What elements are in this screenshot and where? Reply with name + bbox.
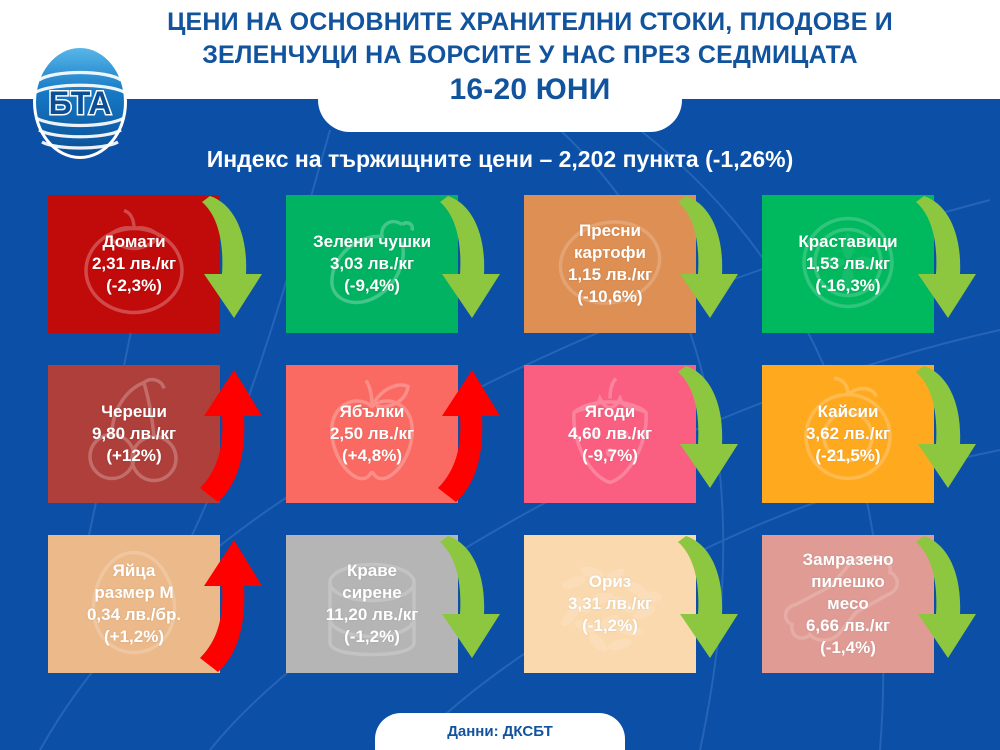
commodity-cell: Кайсии3,62 лв./кг(-21,5%) xyxy=(754,356,992,516)
trend-arrow-down xyxy=(904,530,982,680)
commodity-change: (+12%) xyxy=(92,445,176,467)
commodity-text: Череши9,80 лв./кг(+12%) xyxy=(86,401,182,467)
commodity-price: 11,20 лв./кг xyxy=(326,604,419,626)
trend-arrow-down xyxy=(666,360,744,510)
commodity-price: 1,15 лв./кг xyxy=(568,264,652,286)
commodity-change: (-9,7%) xyxy=(568,445,652,467)
commodity-cell: Замразенопилешкомесо6,66 лв./кг(-1,4%) xyxy=(754,526,992,686)
commodity-text: Домати2,31 лв./кг(-2,3%) xyxy=(86,231,182,297)
trend-arrow-down xyxy=(904,360,982,510)
price-index-line: Индекс на тържищните цени – 2,202 пункта… xyxy=(0,146,1000,173)
commodity-change: (-1,4%) xyxy=(802,637,893,659)
commodity-row: Домати2,31 лв./кг(-2,3%)Зелени чушки3,03… xyxy=(0,186,1000,356)
commodity-text: Ориз3,31 лв./кг(-1,2%) xyxy=(562,571,658,637)
commodity-change: (-2,3%) xyxy=(92,275,176,297)
bta-logo: БТА xyxy=(22,42,138,162)
commodity-cell: Череши9,80 лв./кг(+12%) xyxy=(40,356,278,516)
commodity-price: 0,34 лв./бр. xyxy=(87,604,181,626)
commodity-cell: Зелени чушки3,03 лв./кг(-9,4%) xyxy=(278,186,516,346)
commodity-name: Зелени чушки xyxy=(313,231,431,253)
commodity-text: Краставици1,53 лв./кг(-16,3%) xyxy=(792,231,903,297)
commodity-cell: Ягоди4,60 лв./кг(-9,7%) xyxy=(516,356,754,516)
commodity-text: Замразенопилешкомесо6,66 лв./кг(-1,4%) xyxy=(796,549,899,659)
trend-arrow-down xyxy=(666,530,744,680)
commodity-name: Домати xyxy=(92,231,176,253)
commodity-cell: Краставици1,53 лв./кг(-16,3%) xyxy=(754,186,992,346)
data-source-label: Данни: ДКСБТ xyxy=(375,723,625,740)
commodity-grid: Домати2,31 лв./кг(-2,3%)Зелени чушки3,03… xyxy=(0,186,1000,696)
trend-arrow-down xyxy=(190,190,268,340)
commodity-name: Краве xyxy=(326,560,419,582)
trend-arrow-down xyxy=(666,190,744,340)
commodity-change: (-1,2%) xyxy=(568,615,652,637)
commodity-price: 3,03 лв./кг xyxy=(313,253,431,275)
commodity-cell: Ориз3,31 лв./кг(-1,2%) xyxy=(516,526,754,686)
commodity-price: 2,50 лв./кг xyxy=(330,423,414,445)
commodity-price: 3,31 лв./кг xyxy=(568,593,652,615)
commodity-cell: Яйцаразмер М0,34 лв./бр.(+1,2%) xyxy=(40,526,278,686)
trend-arrow-up xyxy=(190,530,268,680)
commodity-price: 3,62 лв./кг xyxy=(806,423,890,445)
commodity-price: 2,31 лв./кг xyxy=(92,253,176,275)
commodity-cell: Ябълки2,50 лв./кг(+4,8%) xyxy=(278,356,516,516)
commodity-name: пилешко xyxy=(802,571,893,593)
commodity-name: Пресни xyxy=(568,220,652,242)
commodity-change: (+1,2%) xyxy=(87,626,181,648)
commodity-name: Череши xyxy=(92,401,176,423)
trend-arrow-up xyxy=(190,360,268,510)
commodity-change: (-21,5%) xyxy=(806,445,890,467)
commodity-change: (-10,6%) xyxy=(568,286,652,308)
commodity-text: Ябълки2,50 лв./кг(+4,8%) xyxy=(324,401,420,467)
trend-arrow-down xyxy=(904,190,982,340)
commodity-name: картофи xyxy=(568,242,652,264)
commodity-name: Ябълки xyxy=(330,401,414,423)
trend-arrow-down xyxy=(428,190,506,340)
commodity-name: Ориз xyxy=(568,571,652,593)
trend-arrow-up xyxy=(428,360,506,510)
commodity-row: Яйцаразмер М0,34 лв./бр.(+1,2%)Кравесире… xyxy=(0,526,1000,696)
commodity-name: Кайсии xyxy=(806,401,890,423)
commodity-name: месо xyxy=(802,593,893,615)
commodity-price: 1,53 лв./кг xyxy=(798,253,897,275)
commodity-text: Зелени чушки3,03 лв./кг(-9,4%) xyxy=(307,231,437,297)
commodity-price: 4,60 лв./кг xyxy=(568,423,652,445)
commodity-change: (-16,3%) xyxy=(798,275,897,297)
trend-arrow-down xyxy=(428,530,506,680)
commodity-change: (-9,4%) xyxy=(313,275,431,297)
title-line-1: ЦЕНИ НА ОСНОВНИТЕ ХРАНИТЕЛНИ СТОКИ, ПЛОД… xyxy=(120,8,940,36)
commodity-text: Яйцаразмер М0,34 лв./бр.(+1,2%) xyxy=(81,560,187,648)
commodity-cell: Домати2,31 лв./кг(-2,3%) xyxy=(40,186,278,346)
commodity-text: Ягоди4,60 лв./кг(-9,7%) xyxy=(562,401,658,467)
commodity-name: сирене xyxy=(326,582,419,604)
page-title: ЦЕНИ НА ОСНОВНИТЕ ХРАНИТЕЛНИ СТОКИ, ПЛОД… xyxy=(120,8,940,107)
title-line-2: ЗЕЛЕНЧУЦИ НА БОРСИТЕ У НАС ПРЕЗ СЕДМИЦАТ… xyxy=(120,41,940,69)
commodity-cell: Кравесирене11,20 лв./кг(-1,2%) xyxy=(278,526,516,686)
infographic-canvas: ЦЕНИ НА ОСНОВНИТЕ ХРАНИТЕЛНИ СТОКИ, ПЛОД… xyxy=(0,0,1000,750)
commodity-price: 9,80 лв./кг xyxy=(92,423,176,445)
commodity-name: Краставици xyxy=(798,231,897,253)
commodity-name: Ягоди xyxy=(568,401,652,423)
commodity-text: Кайсии3,62 лв./кг(-21,5%) xyxy=(800,401,896,467)
commodity-text: Пресникартофи1,15 лв./кг(-10,6%) xyxy=(562,220,658,308)
bta-logo-text: БТА xyxy=(49,85,112,121)
commodity-text: Кравесирене11,20 лв./кг(-1,2%) xyxy=(320,560,425,648)
commodity-change: (+4,8%) xyxy=(330,445,414,467)
title-date-range: 16-20 ЮНИ xyxy=(120,73,940,107)
commodity-cell: Пресникартофи1,15 лв./кг(-10,6%) xyxy=(516,186,754,346)
commodity-change: (-1,2%) xyxy=(326,626,419,648)
commodity-name: размер М xyxy=(87,582,181,604)
commodity-name: Замразено xyxy=(802,549,893,571)
commodity-row: Череши9,80 лв./кг(+12%)Ябълки2,50 лв./кг… xyxy=(0,356,1000,526)
commodity-price: 6,66 лв./кг xyxy=(802,615,893,637)
commodity-name: Яйца xyxy=(87,560,181,582)
